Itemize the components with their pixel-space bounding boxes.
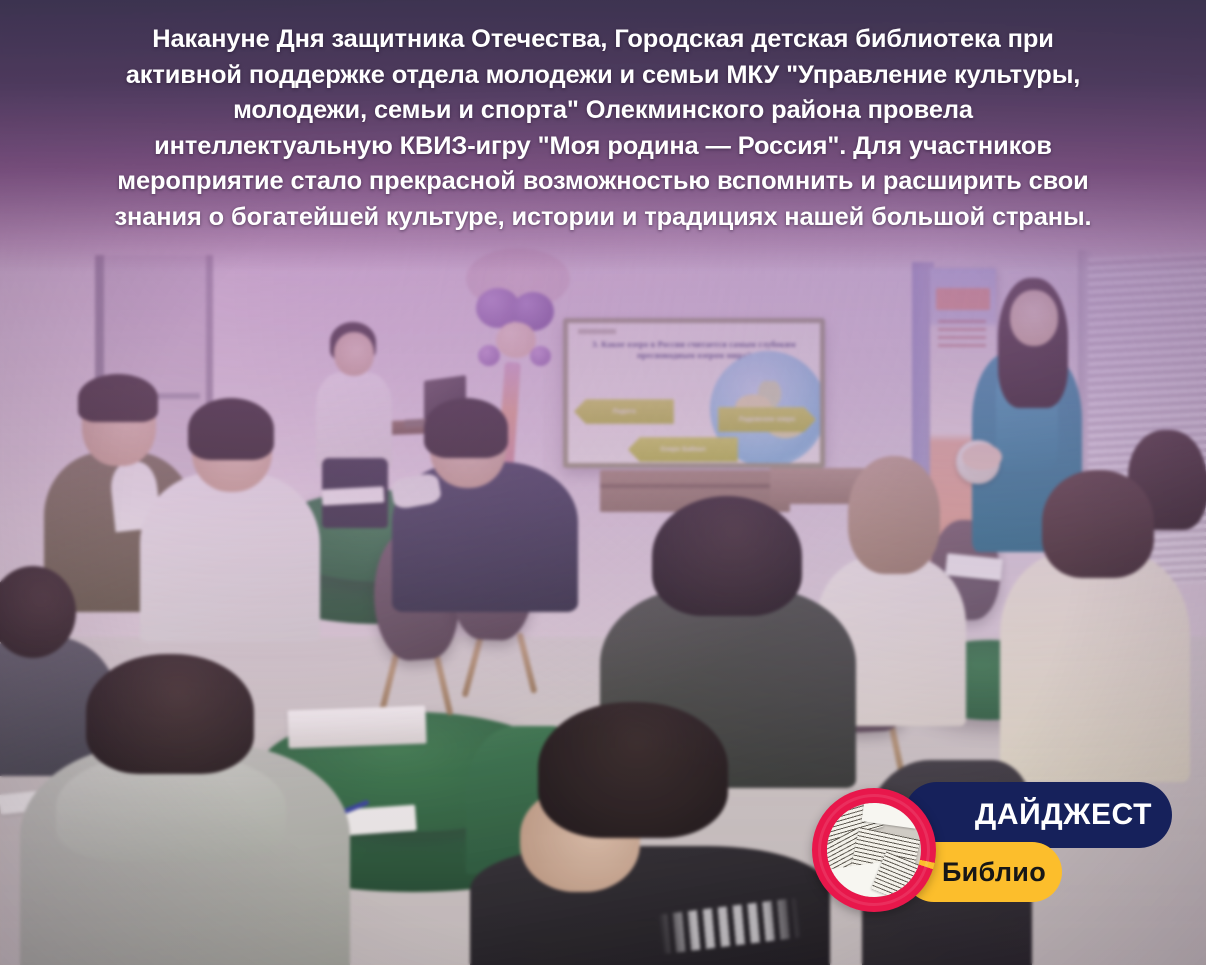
slide-tag bbox=[578, 329, 616, 334]
participant-hair bbox=[538, 702, 728, 838]
projector-screen: 3. Какое озеро в России считается самым … bbox=[563, 318, 825, 468]
slide-answer-2: Ладожское озеро bbox=[718, 407, 816, 432]
worksheet bbox=[287, 706, 426, 749]
banner-text-lines bbox=[938, 320, 986, 352]
participant-body bbox=[1000, 552, 1190, 782]
slide-answer-1: Ладога bbox=[574, 399, 674, 424]
presenter-head bbox=[1010, 290, 1058, 346]
participant-hair bbox=[188, 398, 274, 460]
poster-root: 3. Какое озеро в России считается самым … bbox=[0, 0, 1206, 965]
balloon-small-2 bbox=[530, 346, 551, 366]
staff-member-head bbox=[334, 332, 374, 376]
presenter-hand bbox=[962, 444, 1002, 470]
balloon-small-1 bbox=[478, 345, 500, 366]
brand-logo[interactable]: ДАЙДЖЕСТ Библио bbox=[812, 780, 1172, 908]
participant-hair bbox=[1042, 470, 1154, 578]
headline-text: Накануне Дня защитника Отечества, Городс… bbox=[28, 22, 1178, 235]
logo-primary-label: ДАЙДЖЕСТ bbox=[975, 798, 1152, 832]
logo-books-photo bbox=[827, 803, 921, 897]
participant-hair bbox=[848, 456, 940, 574]
banner-header-strip bbox=[936, 288, 990, 310]
worksheet bbox=[322, 486, 385, 505]
logo-secondary-label: Библио bbox=[942, 857, 1046, 888]
participant-hair bbox=[424, 398, 508, 458]
logo-ring-icon bbox=[812, 788, 936, 912]
participant-hair bbox=[86, 654, 254, 774]
slide-answer-3: Озеро Байкал bbox=[628, 437, 738, 462]
participant-hair bbox=[78, 374, 158, 422]
staff-member-body bbox=[316, 372, 392, 468]
participant-hair bbox=[652, 496, 802, 616]
participant-body bbox=[140, 472, 320, 642]
logo-primary-pill: ДАЙДЖЕСТ bbox=[904, 782, 1172, 848]
